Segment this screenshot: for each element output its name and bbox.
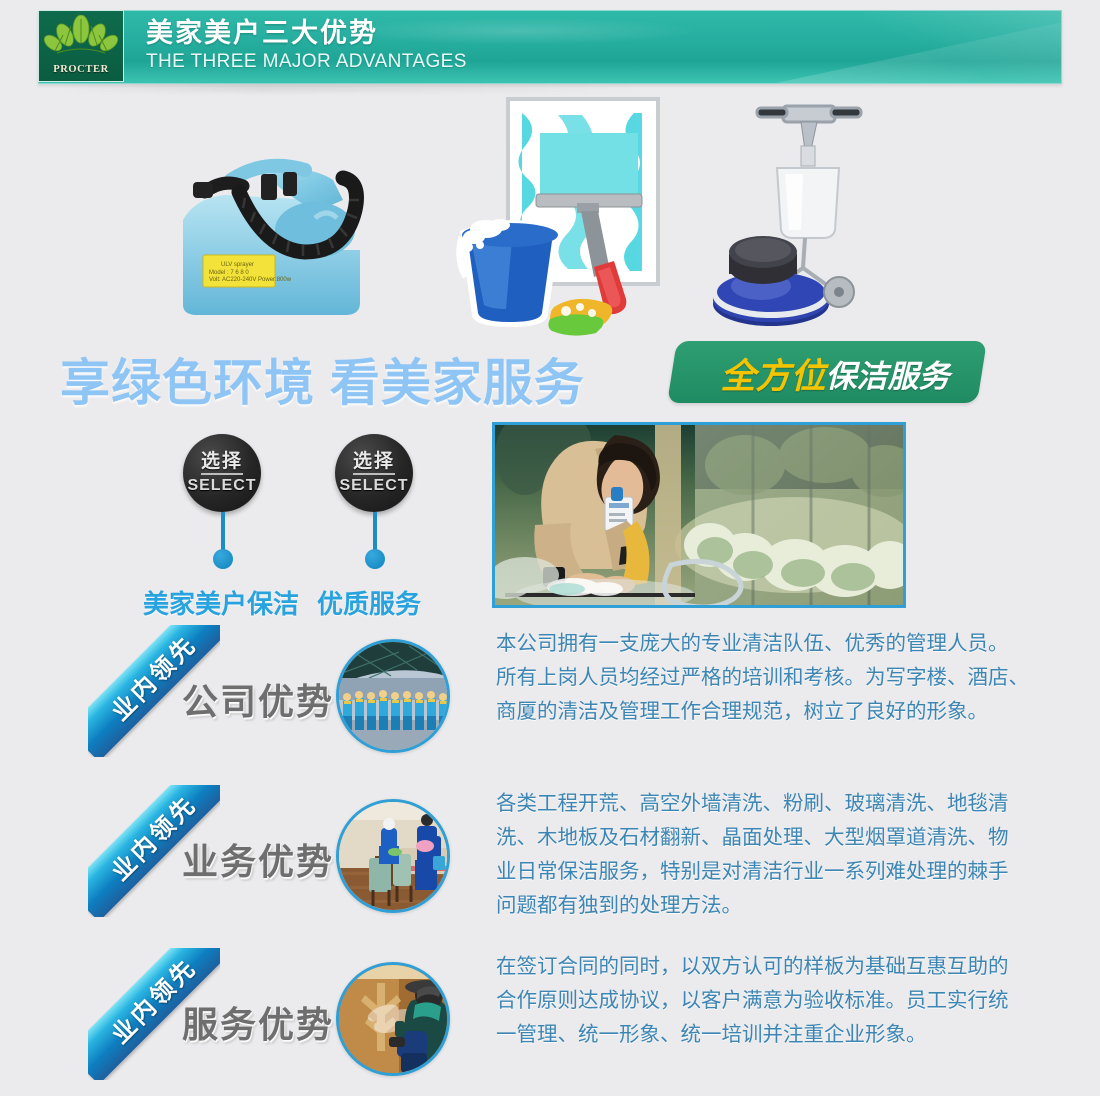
svg-text:Model : 7 6 8 0: Model : 7 6 8 0 — [209, 270, 249, 276]
company-logo: PROCTER — [38, 10, 124, 82]
advantage-text-line: 所有上岗人员均经过严格的培训和考核。为写字楼、酒店、 — [496, 661, 1016, 695]
page-root: PROCTER 美家美户三大优势 THE THREE MAJOR ADVANTA… — [0, 0, 1100, 1096]
service-badge: 全方位 保洁服务 — [690, 351, 980, 395]
select-badge-circle-2: 选择 SELECT — [335, 434, 413, 512]
worker-spraying-cleaning-photo — [336, 962, 450, 1076]
pin-dot-1 — [213, 549, 233, 569]
leaf-crown-icon — [41, 15, 121, 59]
advantage-title-2: 业务优势 — [182, 833, 334, 885]
svg-text:Volt: AC220-240V Power:800w: Volt: AC220-240V Power:800w — [209, 277, 292, 283]
window-cleaning-image — [438, 95, 673, 340]
advantage-text-line: 各类工程开荒、高空外墙清洗、粉刷、玻璃清洗、地毯清 — [496, 787, 1016, 821]
advantage-text-line: 洗、木地板及石材翻新、晶面处理、大型烟罩道清洗、物 — [496, 821, 1016, 855]
select-badge-circle-1: 选择 SELECT — [183, 434, 261, 512]
ulv-sprayer-image: ULV sprayer Model : 7 6 8 0 Volt: AC220-… — [165, 100, 385, 335]
advantage-text-line: 合作原则达成协议，以客户满意为验收标准。员工实行统 — [496, 984, 1016, 1018]
svg-text:ULV sprayer: ULV sprayer — [221, 262, 254, 268]
advantage-text-line: 业日常保洁服务，特别是对清洁行业一系列难处理的棘手 — [496, 855, 1016, 889]
header-light-streak — [736, 10, 1062, 84]
header-title-cn: 美家美户三大优势 — [146, 17, 467, 49]
main-slogan: 享绿色环境 看美家服务 — [60, 343, 585, 415]
select-cn-1: 选择 — [201, 451, 243, 475]
select-marker-1: 选择 SELECT 美家美户保洁 — [183, 434, 261, 512]
floor-polisher-image — [705, 92, 910, 340]
service-badge-highlight: 全方位 — [720, 348, 825, 399]
advantage-text-line: 问题都有独到的处理方法。 — [496, 889, 1016, 923]
header-titles: 美家美户三大优势 THE THREE MAJOR ADVANTAGES — [146, 17, 467, 74]
select-en-1: SELECT — [187, 477, 256, 495]
header: PROCTER 美家美户三大优势 THE THREE MAJOR ADVANTA… — [38, 10, 1060, 82]
advantage-text-line: 在签订合同的同时，以双方认可的样板为基础互惠互助的 — [496, 950, 1016, 984]
indoor-cleaning-workers-photo — [336, 799, 450, 913]
pin-dot-2 — [365, 549, 385, 569]
select-cn-2: 选择 — [353, 451, 395, 475]
team-in-blue-uniform-photo — [336, 639, 450, 753]
advantage-text-2: 各类工程开荒、高空外墙清洗、粉刷、玻璃清洗、地毯清 洗、木地板及石材翻新、晶面处… — [496, 787, 1016, 923]
select-label-2: 优质服务 — [317, 584, 421, 621]
select-label-1: 美家美户保洁 — [143, 584, 299, 621]
logo-wordmark: PROCTER — [41, 64, 121, 75]
header-title-en: THE THREE MAJOR ADVANTAGES — [146, 50, 467, 74]
advantage-text-3: 在签订合同的同时，以双方认可的样板为基础互惠互助的 合作原则达成协议，以客户满意… — [496, 950, 1016, 1052]
advantage-text-line: 本公司拥有一支庞大的专业清洁队伍、优秀的管理人员。 — [496, 627, 1016, 661]
advantage-text-line: 一管理、统一形象、统一培训并注重企业形象。 — [496, 1018, 1016, 1052]
advantage-title-3: 服务优势 — [182, 996, 334, 1048]
worker-cleaning-glass-table-photo — [492, 422, 906, 608]
service-badge-rest: 保洁服务 — [826, 351, 950, 396]
select-marker-2: 选择 SELECT 优质服务 — [335, 434, 413, 512]
advantage-text-line: 商厦的清洁及管理工作合理规范，树立了良好的形象。 — [496, 695, 1016, 729]
advantage-title-1: 公司优势 — [182, 673, 334, 725]
advantage-text-1: 本公司拥有一支庞大的专业清洁队伍、优秀的管理人员。 所有上岗人员均经过严格的培训… — [496, 627, 1016, 729]
pin-line-2 — [373, 512, 377, 554]
pin-line-1 — [221, 512, 225, 554]
select-en-2: SELECT — [339, 477, 408, 495]
header-drop-shadow — [60, 84, 640, 92]
